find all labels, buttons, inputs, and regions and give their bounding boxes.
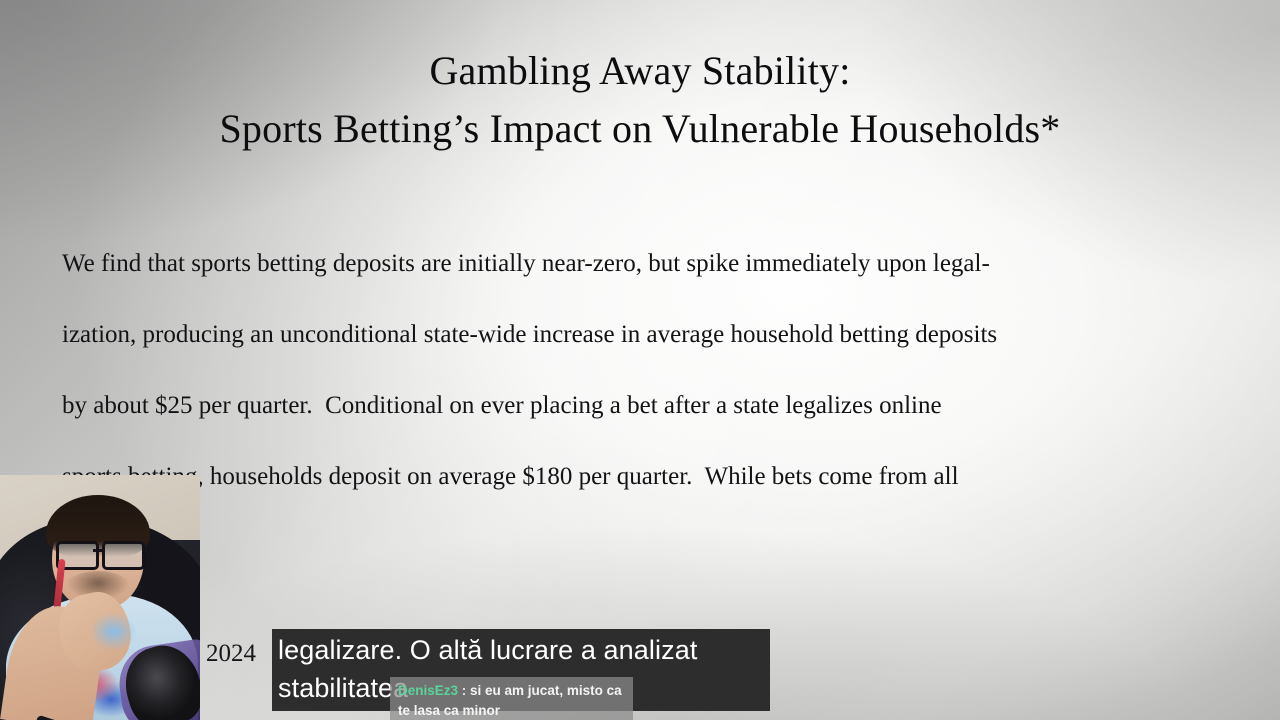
stream-screen: Gambling Away Stability: Sports Betting’…	[0, 0, 1280, 720]
caption-line-1: legalizare. O altă lucrare a analizat	[278, 631, 764, 669]
abstract-line-4: sports betting, households deposit on av…	[62, 441, 1220, 512]
chat-overlay: DenisEz3 : si eu am jucat, misto ca te l…	[390, 677, 633, 720]
chat-separator: :	[458, 683, 470, 698]
glasses-bridge	[93, 549, 103, 552]
paper-title-line-2: Sports Betting’s Impact on Vulnerable Ho…	[0, 100, 1280, 158]
chat-message-row: DenisEz3 : si eu am jucat, misto ca te l…	[398, 681, 625, 720]
abstract-line-3: by about $25 per quarter. Conditional on…	[62, 370, 1220, 441]
year-stamp: 2024	[206, 640, 256, 668]
page-title: Gambling Away Stability: Sports Betting’…	[0, 42, 1280, 158]
paper-abstract: We find that sports betting deposits are…	[62, 228, 1220, 512]
glasses-icon	[54, 541, 142, 565]
abstract-line-1: We find that sports betting deposits are…	[62, 228, 1220, 299]
abstract-line-2: ization, producing an unconditional stat…	[62, 299, 1220, 370]
facecam-overlay	[0, 475, 200, 720]
glasses-lens-right	[102, 541, 145, 570]
paper-title-line-1: Gambling Away Stability:	[0, 42, 1280, 100]
chat-username[interactable]: DenisEz3	[398, 683, 458, 698]
